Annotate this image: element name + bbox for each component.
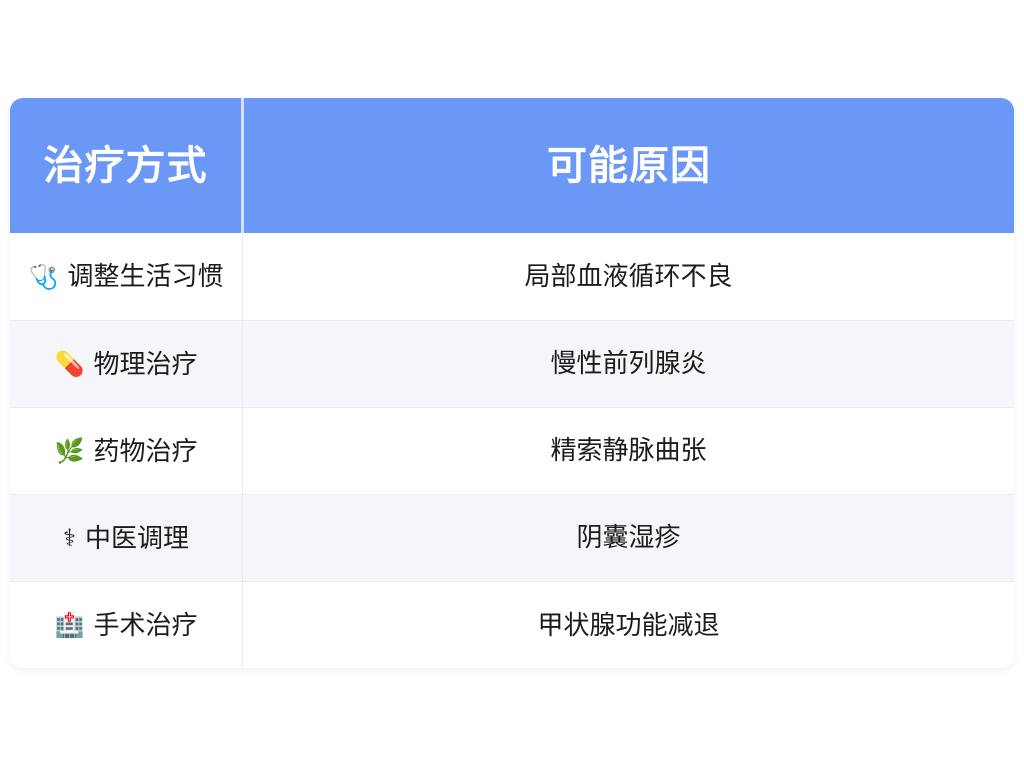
treatment-content: 🌿 药物治疗: [55, 435, 198, 468]
treatment-cause-table: 治疗方式 可能原因 🩺 调整生活习惯 局部血液循环不良: [10, 98, 1014, 668]
column-header-treatment: 治疗方式: [10, 98, 243, 233]
table-header: 治疗方式 可能原因: [10, 98, 1014, 233]
cell-treatment: 🏥 手术治疗: [10, 581, 243, 668]
table-header-row: 治疗方式 可能原因: [10, 98, 1014, 233]
herb-icon: 🌿: [55, 439, 85, 463]
cause-label: 精索静脉曲张: [550, 435, 706, 465]
treatment-label: 手术治疗: [93, 609, 197, 642]
cell-cause: 阴囊湿疹: [243, 494, 1015, 581]
treatment-label: 调整生活习惯: [67, 260, 223, 293]
treatment-content: 💊 物理治疗: [55, 348, 198, 381]
treatment-label: 中医调理: [85, 522, 189, 555]
treatment-content: 🏥 手术治疗: [55, 609, 198, 642]
table-row: ⚕ 中医调理 阴囊湿疹: [10, 494, 1014, 581]
table-row: 🏥 手术治疗 甲状腺功能减退: [10, 581, 1014, 668]
treatment-label: 药物治疗: [93, 435, 197, 468]
cell-cause: 局部血液循环不良: [243, 233, 1015, 320]
treatment-content: 🩺 调整生活习惯: [29, 260, 224, 293]
page-root: 治疗方式 可能原因 🩺 调整生活习惯 局部血液循环不良: [0, 0, 1024, 768]
cell-cause: 甲状腺功能减退: [243, 581, 1015, 668]
treatment-cause-table-card: 治疗方式 可能原因 🩺 调整生活习惯 局部血液循环不良: [10, 98, 1014, 668]
cause-label: 局部血液循环不良: [524, 261, 732, 291]
column-header-cause: 可能原因: [243, 98, 1015, 233]
cause-label: 甲状腺功能减退: [537, 610, 719, 640]
cause-label: 阴囊湿疹: [576, 522, 680, 552]
pill-icon: 💊: [55, 352, 85, 376]
cell-treatment: 🩺 调整生活习惯: [10, 233, 243, 320]
table-row: 💊 物理治疗 慢性前列腺炎: [10, 320, 1014, 407]
cell-cause: 精索静脉曲张: [243, 407, 1015, 494]
cell-treatment: ⚕ 中医调理: [10, 494, 243, 581]
treatment-label: 物理治疗: [93, 348, 197, 381]
cell-treatment: 🌿 药物治疗: [10, 407, 243, 494]
medical-symbol-icon: ⚕: [63, 526, 76, 550]
treatment-content: ⚕ 中医调理: [63, 522, 189, 555]
table-body: 🩺 调整生活习惯 局部血液循环不良 💊 物理治疗: [10, 233, 1014, 668]
cause-label: 慢性前列腺炎: [550, 348, 706, 378]
cell-cause: 慢性前列腺炎: [243, 320, 1015, 407]
table-row: 🩺 调整生活习惯 局部血液循环不良: [10, 233, 1014, 320]
cell-treatment: 💊 物理治疗: [10, 320, 243, 407]
hospital-icon: 🏥: [55, 613, 85, 637]
stethoscope-icon: 🩺: [29, 265, 59, 289]
table-row: 🌿 药物治疗 精索静脉曲张: [10, 407, 1014, 494]
